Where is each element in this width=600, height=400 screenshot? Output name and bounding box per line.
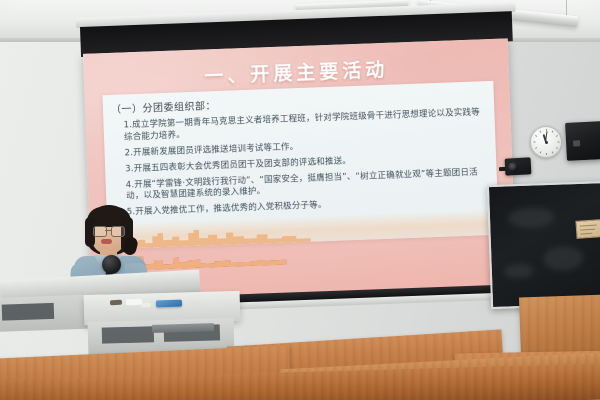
slide-subtitle: （一）分团委组织部： bbox=[111, 97, 216, 116]
lectern-card bbox=[141, 303, 151, 307]
classroom-photo: 一、开展主要活动 （一）分团委组织部： 1.成立学院第一期青年马克思主义者培养工… bbox=[0, 0, 600, 400]
chalkboard bbox=[487, 181, 600, 309]
wooden-bench bbox=[519, 295, 600, 360]
wall-notice-plate bbox=[575, 219, 600, 239]
light-wire bbox=[566, 0, 567, 16]
glasses-icon bbox=[92, 226, 125, 235]
clock-center-pin bbox=[545, 141, 548, 144]
lectern-shelf-slot bbox=[152, 323, 214, 333]
wall-camera-icon bbox=[505, 157, 532, 175]
microphone-icon bbox=[102, 255, 121, 274]
slide-content-card: （一）分团委组织部： 1.成立学院第一期青年马克思主义者培养工程班，针对学院班级… bbox=[102, 81, 498, 249]
mouth bbox=[101, 239, 112, 244]
wall-clock bbox=[530, 126, 562, 158]
wall-speaker-icon bbox=[565, 121, 600, 161]
lectern-remote bbox=[110, 300, 122, 306]
slide-bullet-list: 1.成立学院第一期青年马克思主义者培养工程班，针对学院班级骨干进行思想理论以及实… bbox=[123, 107, 490, 223]
lectern-pencil-case bbox=[156, 300, 182, 308]
lectern-paper-stack bbox=[126, 299, 142, 306]
